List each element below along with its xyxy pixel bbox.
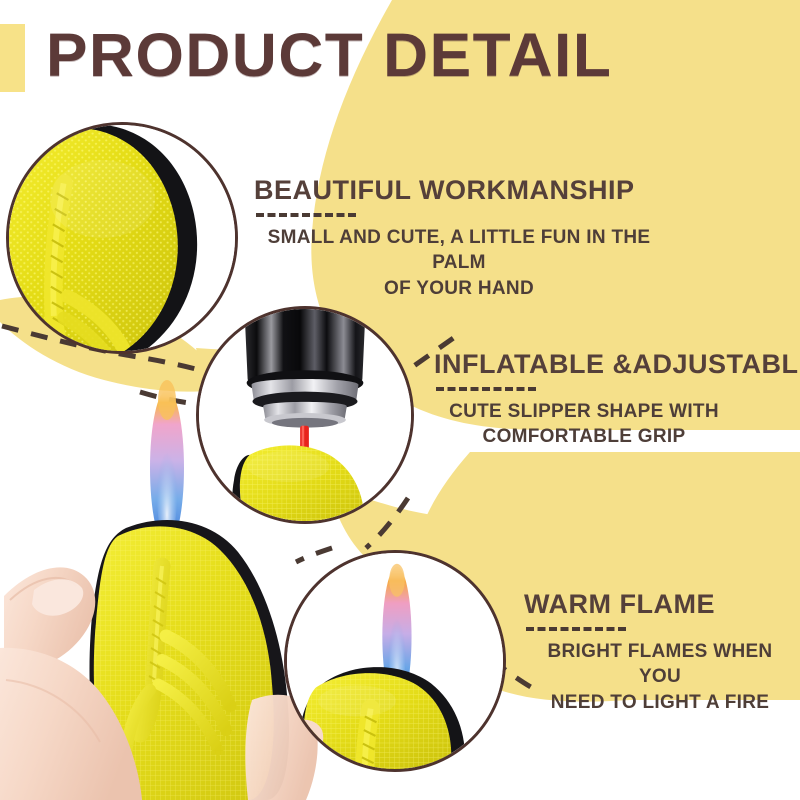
- photo-slipper-lighter-lit: [287, 553, 503, 769]
- info-body-line-1: SMALL AND CUTE, A LITTLE FUN IN THE PALM: [254, 225, 664, 275]
- info-block-workmanship: BEAUTIFUL WORKMANSHIP SMALL AND CUTE, A …: [254, 176, 664, 301]
- info-heading-workmanship: BEAUTIFUL WORKMANSHIP: [254, 176, 664, 204]
- photo-gas-refill-nozzle: [199, 309, 411, 521]
- divider-warm-flame: [526, 627, 626, 631]
- info-heading-warm-flame: WARM FLAME: [524, 590, 800, 618]
- info-block-warm-flame: WARM FLAME BRIGHT FLAMES WHEN YOU NEED T…: [524, 590, 800, 715]
- info-body-inflatable: CUTE SLIPPER SHAPE WITH COMFORTABLE GRIP: [434, 399, 734, 449]
- info-body-line-2: OF YOUR HAND: [254, 276, 664, 301]
- info-block-inflatable: INFLATABLE &ADJUSTABLE CUTE SLIPPER SHAP…: [434, 350, 794, 450]
- divider-workmanship: [256, 213, 356, 217]
- info-body-line-2: COMFORTABLE GRIP: [434, 424, 734, 449]
- info-body-warm-flame: BRIGHT FLAMES WHEN YOU NEED TO LIGHT A F…: [524, 639, 796, 714]
- info-heading-inflatable: INFLATABLE &ADJUSTABLE: [434, 350, 794, 378]
- photo-circle-inflatable: [196, 306, 414, 524]
- divider-inflatable: [436, 387, 536, 391]
- info-body-line-1: BRIGHT FLAMES WHEN YOU: [524, 639, 796, 689]
- product-detail-infographic: PRODUCT DETAIL: [0, 0, 800, 800]
- info-body-line-2: NEED TO LIGHT A FIRE: [524, 690, 796, 715]
- info-body-line-1: CUTE SLIPPER SHAPE WITH: [434, 399, 734, 424]
- photo-circle-warm-flame: [284, 550, 506, 772]
- info-body-workmanship: SMALL AND CUTE, A LITTLE FUN IN THE PALM…: [254, 225, 664, 300]
